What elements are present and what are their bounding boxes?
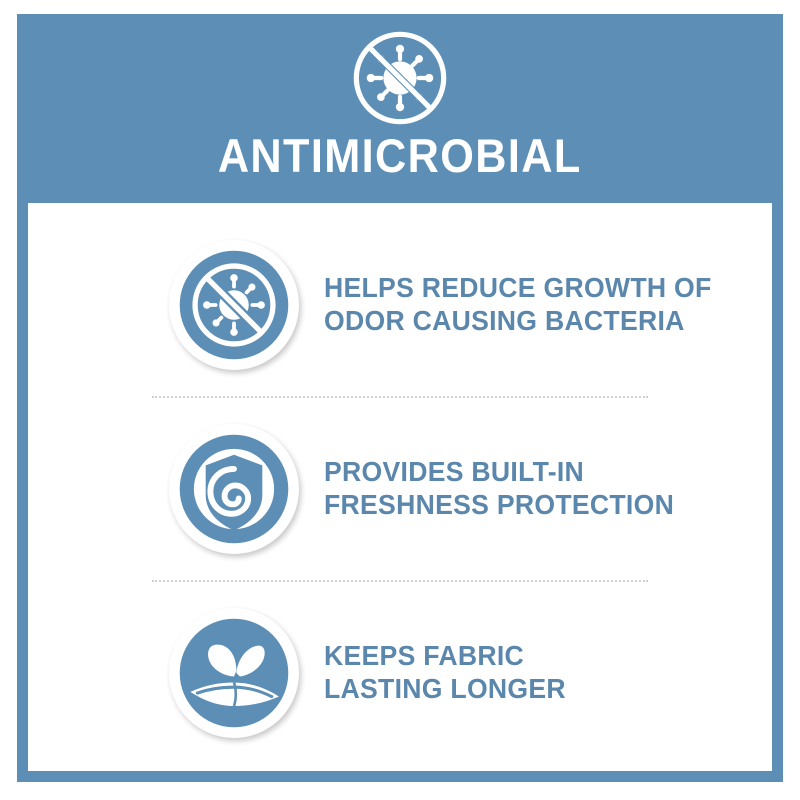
feature-icon-badge <box>169 424 299 554</box>
feature-label-line1: PROVIDES BUILT-IN <box>324 456 674 489</box>
content-panel: HELPS REDUCE GROWTH OF ODOR CAUSING BACT… <box>28 203 772 771</box>
feature-label: PROVIDES BUILT-IN FRESHNESS PROTECTION <box>324 456 674 522</box>
header-band: ANTIMICROBIAL <box>17 14 783 203</box>
row-divider <box>152 396 648 398</box>
feature-label: KEEPS FABRIC LASTING LONGER <box>324 640 566 706</box>
feature-label-line1: HELPS REDUCE GROWTH OF <box>324 272 712 305</box>
row-divider <box>152 580 648 582</box>
feature-row: PROVIDES BUILT-IN FRESHNESS PROTECTION <box>28 405 772 573</box>
page-title: ANTIMICROBIAL <box>218 132 582 179</box>
feature-row: HELPS REDUCE GROWTH OF ODOR CAUSING BACT… <box>28 221 772 389</box>
feature-label-line2: ODOR CAUSING BACTERIA <box>324 305 712 338</box>
feature-list: HELPS REDUCE GROWTH OF ODOR CAUSING BACT… <box>28 203 772 771</box>
feature-icon-badge <box>169 240 299 370</box>
no-germ-icon <box>175 246 293 364</box>
shield-swirl-icon <box>175 430 293 548</box>
feature-label-line1: KEEPS FABRIC <box>324 640 566 673</box>
feature-row: KEEPS FABRIC LASTING LONGER <box>28 589 772 757</box>
blue-frame: ANTIMICROBIAL <box>17 14 783 782</box>
no-germ-icon <box>348 26 452 130</box>
feature-label-line2: LASTING LONGER <box>324 673 566 706</box>
feature-label: HELPS REDUCE GROWTH OF ODOR CAUSING BACT… <box>324 272 712 338</box>
antimicrobial-infographic: ANTIMICROBIAL <box>0 0 800 800</box>
feature-label-line2: FRESHNESS PROTECTION <box>324 489 674 522</box>
feature-icon-badge <box>169 608 299 738</box>
leaf-fabric-icon <box>175 614 293 732</box>
